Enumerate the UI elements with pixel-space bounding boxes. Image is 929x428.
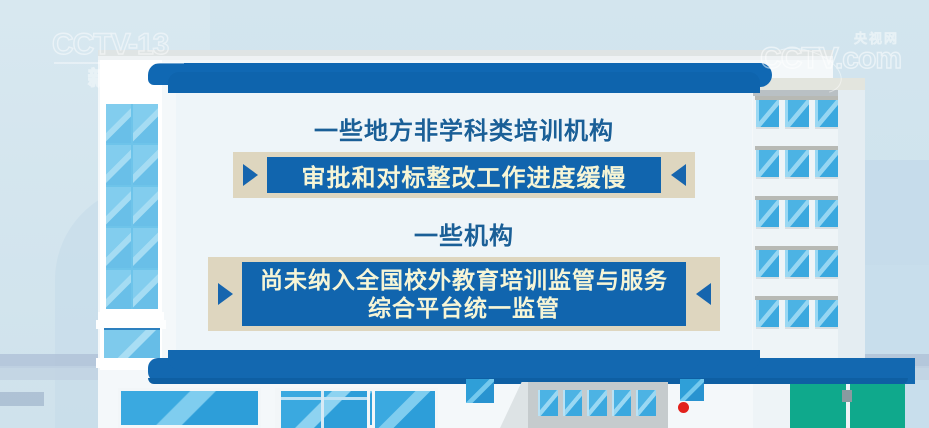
glass-pane [133,187,158,226]
window [636,390,656,416]
storefront-window [372,388,438,428]
highlight-line: 审批和对标整改工作进度缓慢 [302,158,627,193]
window [785,150,808,177]
window [563,390,583,416]
red-dot [678,402,689,413]
window [785,300,808,327]
tower-lower-glass [104,328,160,360]
window [587,390,607,416]
glass-pane [133,228,158,267]
triangle-left-icon [686,283,720,305]
info-panel: 一些地方非学科类培训机构 审批和对标整改工作进度缓慢 一些机构 尚未纳入全国校外… [168,62,760,372]
door-handle [842,390,852,402]
block-1-highlight: 审批和对标整改工作进度缓慢 [233,152,695,198]
grey-facade-panel [528,382,668,428]
window [815,300,838,327]
triangle-right-icon [233,164,267,186]
glass-pane [106,270,131,309]
block-2-heading: 一些机构 [414,216,514,251]
block-1-highlight-bar: 审批和对标整改工作进度缓慢 [267,157,661,193]
window [538,390,558,416]
block-2-highlight-bar: 尚未纳入全国校外教育培训监管与服务 综合平台统一监管 [242,262,686,326]
broadcast-screenshot: CCTV-13 新闻 央视网 CCTV.com 一些地方非学科类培训机构 审批和… [0,0,929,428]
glass-pane [106,228,131,267]
left-ground-strip [0,392,44,406]
window [815,100,838,127]
triangle-right-icon [208,283,242,305]
glass-pane [133,104,158,143]
right-building-window-row [756,300,838,327]
highlight-line: 综合平台统一监管 [368,294,560,322]
panel-bottom-bar [168,350,760,370]
window [815,250,838,277]
window [785,100,808,127]
window [815,200,838,227]
block-2-highlight: 尚未纳入全国校外教育培训监管与服务 综合平台统一监管 [208,257,720,331]
blue-accent-tab [466,379,494,403]
blue-accent-tab [680,379,704,401]
right-building-window-row [756,250,838,277]
panel-content: 一些地方非学科类培训机构 审批和对标整改工作进度缓慢 一些机构 尚未纳入全国校外… [176,93,752,350]
small-window-strip [538,390,656,416]
right-building-window-row [756,200,838,227]
door-header [281,397,367,400]
window [785,200,808,227]
right-building-window-row [756,100,838,127]
highlight-line: 尚未纳入全国校外教育培训监管与服务 [260,266,668,294]
left-tower-glass-grid [106,104,158,309]
panel-top-bar [168,72,760,93]
glass-pane [133,270,158,309]
glass-pane [106,187,131,226]
door-mullion [321,391,324,428]
triangle-left-icon [661,164,695,186]
block-1-heading: 一些地方非学科类培训机构 [314,111,614,146]
window [612,390,632,416]
teal-door [790,384,905,428]
storefront-window [118,388,261,428]
glass-pane [106,145,131,184]
window [785,250,808,277]
building-roofline-light [98,56,833,60]
glass-pane [133,145,158,184]
window [815,150,838,177]
entrance-door [278,388,370,428]
glass-pane [106,104,131,143]
right-building-window-row [756,150,838,177]
